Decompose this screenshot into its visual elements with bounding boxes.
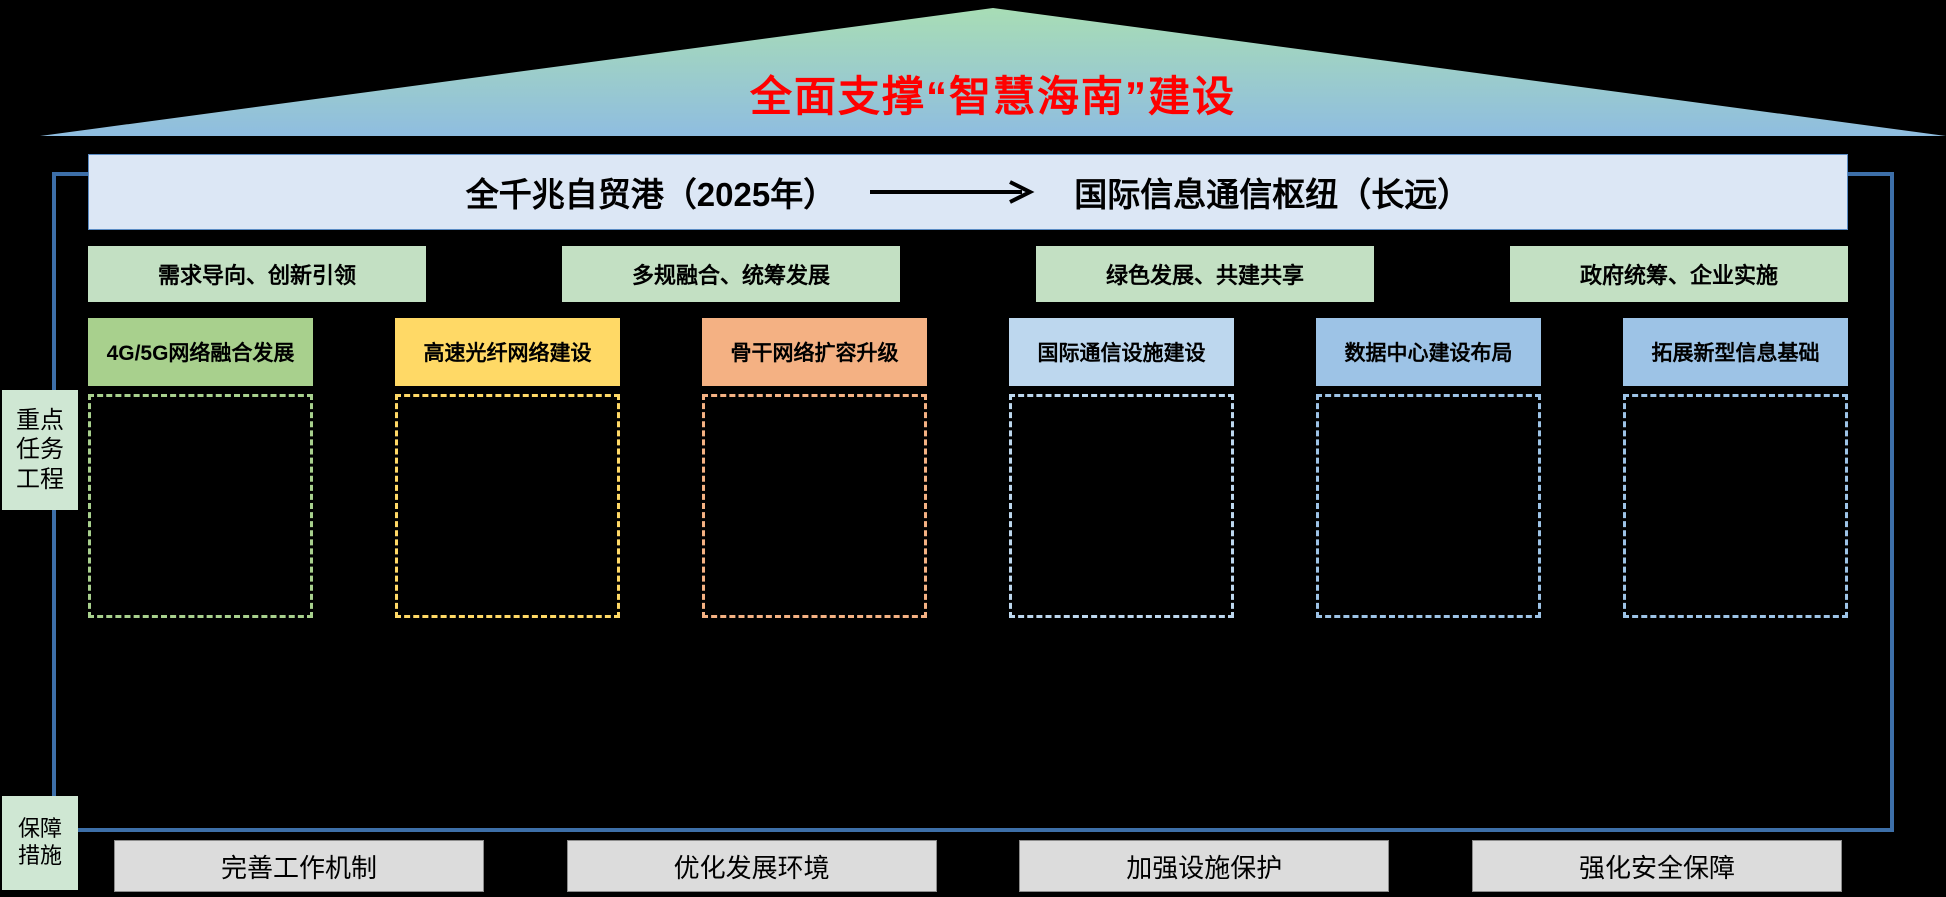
task-column-5: 数据中心建设布局: [1316, 318, 1541, 618]
task-column-4: 国际通信设施建设: [1009, 318, 1234, 618]
side-label-line: 任务: [16, 435, 64, 464]
measure-label: 加强设施保护: [1126, 848, 1282, 885]
task-column-3: 骨干网络扩容升级: [702, 318, 927, 618]
task-column-6: 拓展新型信息基础: [1623, 318, 1848, 618]
right-arrow-icon: [870, 179, 1040, 205]
task-header-5: 数据中心建设布局: [1316, 318, 1541, 386]
diagram-canvas: 全面支撑“智慧海南”建设 全千兆自贸港（2025年） 国际信息通信枢纽（长远） …: [0, 0, 1946, 897]
task-body-2: [395, 394, 620, 618]
principle-box-3: 绿色发展、共建共享: [1036, 246, 1374, 302]
vision-near-term-text: 全千兆自贸港（2025年）: [466, 168, 836, 216]
side-label-key-tasks: 重点 任务 工程: [2, 390, 78, 510]
vision-bar: 全千兆自贸港（2025年） 国际信息通信枢纽（长远）: [88, 154, 1848, 230]
task-body-4: [1009, 394, 1234, 618]
principle-box-4: 政府统筹、企业实施: [1510, 246, 1848, 302]
task-column-2: 高速光纤网络建设: [395, 318, 620, 618]
task-header-4: 国际通信设施建设: [1009, 318, 1234, 386]
side-label-line: 工程: [16, 465, 64, 494]
measure-box-4: 强化安全保障: [1472, 840, 1842, 892]
task-header-6: 拓展新型信息基础: [1623, 318, 1848, 386]
task-body-1: [88, 394, 313, 618]
measure-box-1: 完善工作机制: [114, 840, 484, 892]
measure-label: 完善工作机制: [221, 848, 377, 885]
principle-label: 政府统筹、企业实施: [1580, 258, 1778, 290]
side-label-line: 措施: [18, 843, 62, 870]
side-label-safeguard-measures: 保障 措施: [2, 796, 78, 890]
task-header-label: 拓展新型信息基础: [1652, 337, 1820, 367]
principle-box-2: 多规融合、统筹发展: [562, 246, 900, 302]
side-label-line: 保障: [18, 816, 62, 843]
side-label-line: 重点: [16, 406, 64, 435]
task-column-1: 4G/5G网络融合发展: [88, 318, 313, 618]
task-header-label: 数据中心建设布局: [1345, 337, 1513, 367]
task-header-label: 国际通信设施建设: [1038, 337, 1206, 367]
principles-row: 需求导向、创新引领 多规融合、统筹发展 绿色发展、共建共享 政府统筹、企业实施: [88, 246, 1848, 302]
measure-label: 优化发展环境: [674, 848, 830, 885]
task-header-2: 高速光纤网络建设: [395, 318, 620, 386]
principle-label: 需求导向、创新引领: [158, 258, 356, 290]
measure-label: 强化安全保障: [1579, 848, 1735, 885]
frame-top-right-segment: [1845, 172, 1894, 176]
task-header-label: 4G/5G网络融合发展: [107, 337, 295, 367]
task-header-label: 骨干网络扩容升级: [731, 337, 899, 367]
roof-triangle: 全面支撑“智慧海南”建设: [40, 8, 1946, 138]
task-header-3: 骨干网络扩容升级: [702, 318, 927, 386]
task-header-1: 4G/5G网络融合发展: [88, 318, 313, 386]
task-body-5: [1316, 394, 1541, 618]
task-body-6: [1623, 394, 1848, 618]
task-body-3: [702, 394, 927, 618]
task-columns-row: 4G/5G网络融合发展 高速光纤网络建设 骨干网络扩容升级 国际通信设: [88, 318, 1848, 618]
measures-row: 完善工作机制 优化发展环境 加强设施保护 强化安全保障: [114, 840, 1842, 892]
frame-right-segment: [1890, 172, 1894, 832]
frame-bottom-segment: [52, 828, 1894, 832]
principle-box-1: 需求导向、创新引领: [88, 246, 426, 302]
measure-box-3: 加强设施保护: [1019, 840, 1389, 892]
principle-label: 绿色发展、共建共享: [1106, 258, 1304, 290]
roof-title: 全面支撑“智慧海南”建设: [40, 63, 1946, 124]
principle-label: 多规融合、统筹发展: [632, 258, 830, 290]
vision-long-term-text: 国际信息通信枢纽（长远）: [1074, 168, 1470, 216]
task-header-label: 高速光纤网络建设: [424, 337, 592, 367]
measure-box-2: 优化发展环境: [567, 840, 937, 892]
